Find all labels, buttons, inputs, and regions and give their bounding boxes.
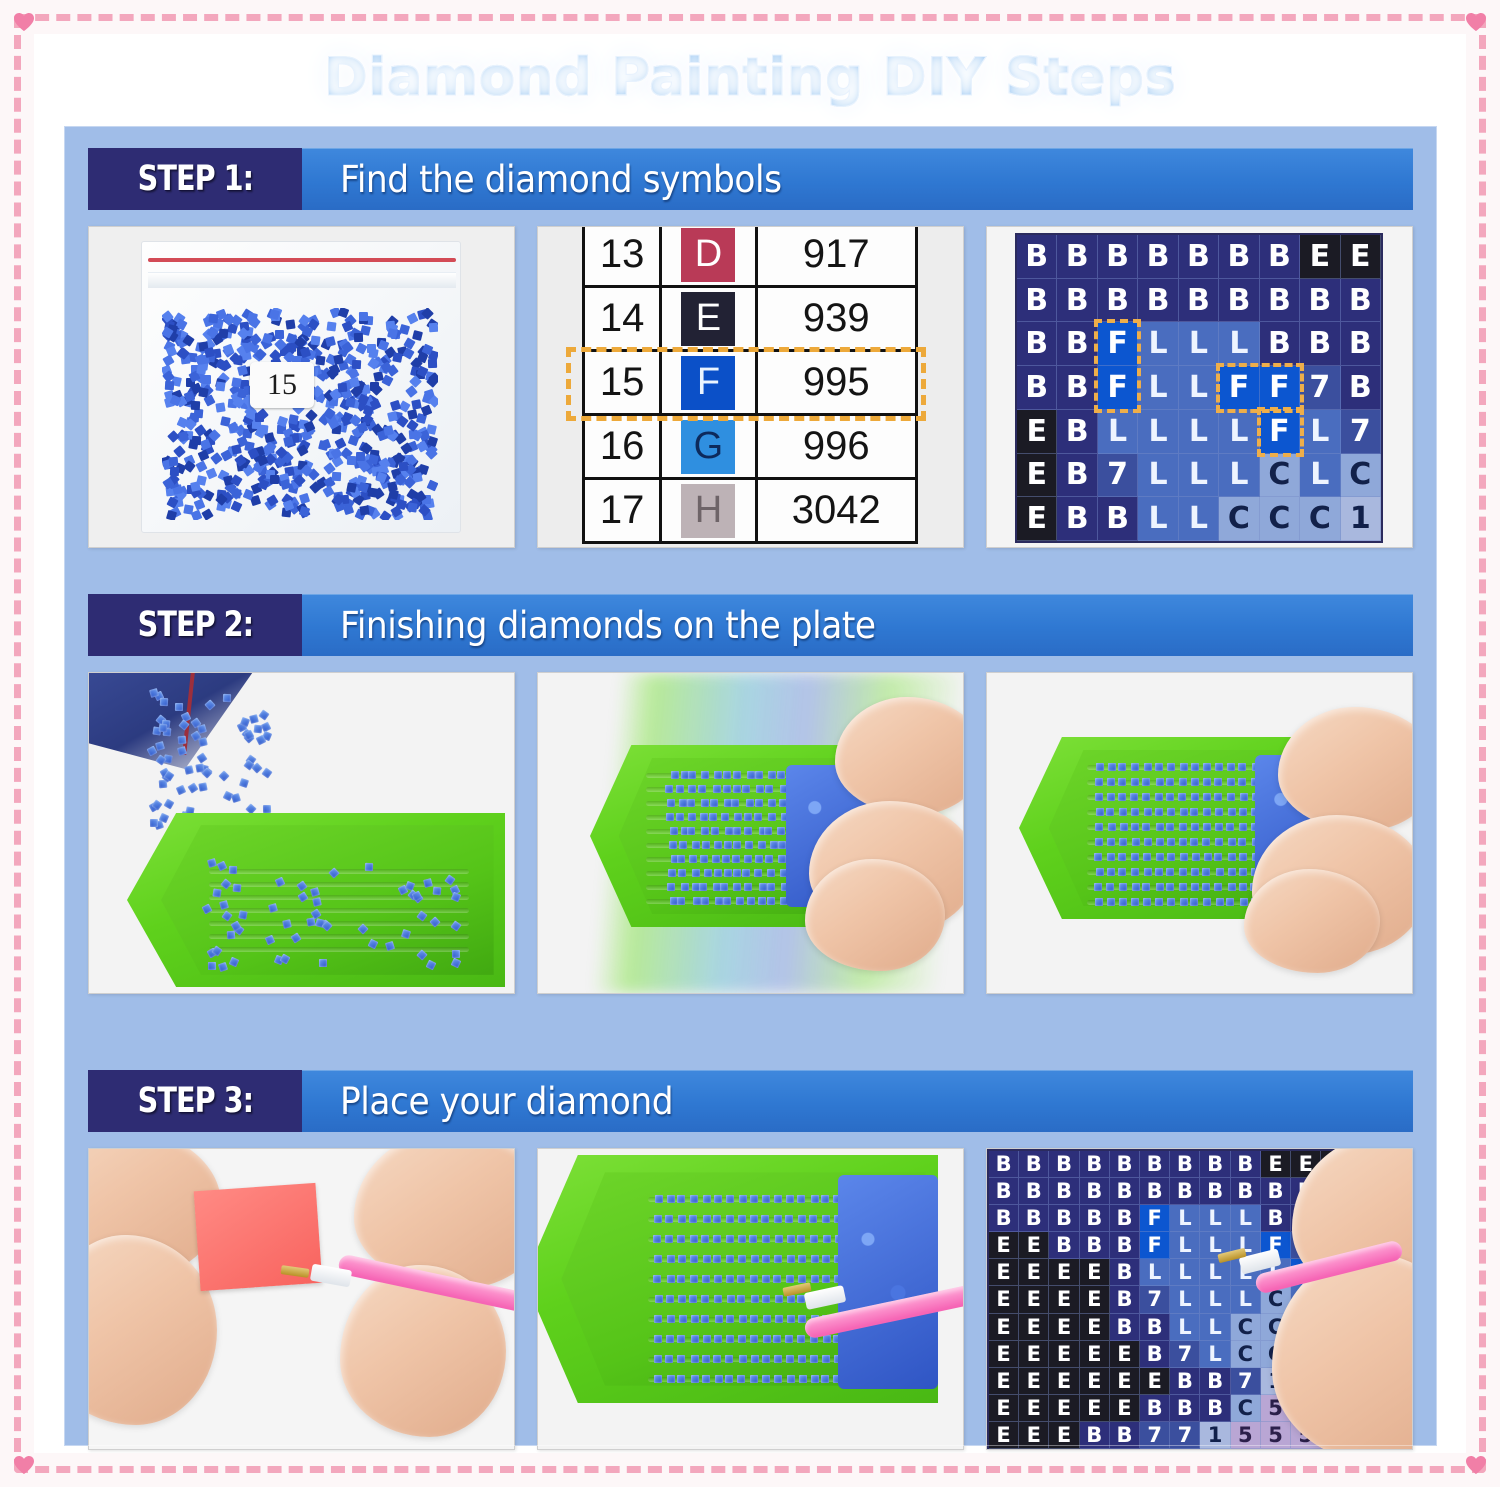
diamond (1238, 778, 1246, 786)
diamond (822, 1215, 830, 1223)
diamond (765, 855, 773, 863)
grid-cell: B (989, 1151, 1019, 1178)
diamond (1167, 853, 1175, 861)
diamond (823, 1335, 831, 1343)
grid-cell: E (1080, 1341, 1110, 1368)
diamond (187, 783, 198, 794)
diamond (1155, 868, 1163, 876)
diamond (1179, 883, 1187, 891)
bag-scene: 15 (89, 227, 514, 547)
diamond (1228, 853, 1236, 861)
grid-cell: E (989, 1314, 1019, 1341)
diamond (689, 1215, 697, 1223)
canvas-symbol-grid-photo: BBBBBBBEEBBBBBBBBBBBFLLLBBBBBFLLFF7BEBLL… (986, 226, 1413, 548)
diamond (714, 1335, 722, 1343)
diamond-bead (196, 475, 207, 486)
aligned-diamonds-tray-photo (986, 672, 1413, 994)
grid-cell: L (1098, 410, 1138, 454)
diamond (751, 1295, 759, 1303)
grid-cell: B (1098, 279, 1138, 323)
diamond (1131, 853, 1139, 861)
grid-cell: B (1200, 1178, 1230, 1205)
diamond (1107, 868, 1115, 876)
diamond (1191, 823, 1199, 831)
diamond-bead (315, 356, 325, 366)
diamond (1108, 823, 1116, 831)
diamond (1142, 793, 1150, 801)
diamond (1191, 793, 1199, 801)
diamond-bead (326, 322, 336, 332)
diamond (704, 869, 712, 877)
grid-cell: F (1140, 1205, 1170, 1232)
diamond (679, 841, 687, 849)
legend-number: 14 (584, 287, 661, 351)
grid-cell: B (1057, 410, 1097, 454)
diamond (774, 1195, 782, 1203)
grid-cell: B (1261, 1178, 1291, 1205)
diamond (702, 1375, 710, 1383)
diamond (1239, 808, 1247, 816)
diamond (755, 855, 763, 863)
diamond (739, 1195, 747, 1203)
diamond (732, 855, 740, 863)
bag-number-label: 15 (250, 362, 314, 408)
grid-cell: F (1219, 366, 1259, 410)
grid-cell: B (1341, 322, 1381, 366)
diamond-bead (192, 435, 201, 444)
grid-cell: B (1080, 1205, 1110, 1232)
diamond (310, 887, 320, 897)
grid-cell: B (1219, 279, 1259, 323)
step-2-block: STEP 2: Finishing diamonds on the plate (88, 594, 1413, 994)
diamond (1095, 778, 1103, 786)
diamond (750, 1375, 758, 1383)
diamond (1228, 838, 1236, 846)
diamond (666, 813, 674, 821)
diamond (799, 1375, 807, 1383)
grid-cell: F (1140, 1232, 1170, 1259)
diamond (1191, 778, 1199, 786)
diamond (700, 855, 708, 863)
diamond (1215, 808, 1223, 816)
diamond (750, 1195, 758, 1203)
diamond (750, 1315, 758, 1323)
diamond (208, 962, 216, 970)
grid-cell: E (1049, 1341, 1079, 1368)
diamond (738, 1255, 746, 1263)
grid-cell: E (1110, 1341, 1140, 1368)
step-2-photo-row (88, 656, 1413, 994)
diamond-bead (277, 415, 288, 426)
diamond (758, 841, 766, 849)
diamond (667, 1375, 675, 1383)
diamond (754, 869, 762, 877)
diamond (821, 1375, 829, 1383)
diamond (665, 1215, 673, 1223)
diamond (1108, 763, 1116, 771)
grid-cell: B (1049, 1205, 1079, 1232)
diamond (702, 1355, 710, 1363)
diamond (1095, 898, 1103, 906)
grid-cell: L (1138, 322, 1178, 366)
diamond (1214, 778, 1222, 786)
diamond (678, 869, 686, 877)
diamond (699, 883, 707, 891)
diamond (747, 897, 755, 905)
diamond (1178, 793, 1186, 801)
diamond (1179, 823, 1187, 831)
diamond (762, 1275, 770, 1283)
diamond (1180, 898, 1188, 906)
diamond (733, 771, 741, 779)
diamond (761, 1215, 769, 1223)
grid-cell: E (989, 1422, 1019, 1449)
diamond (1228, 883, 1236, 891)
pour-diamonds-into-tray-photo (88, 672, 515, 994)
diamond (762, 1195, 770, 1203)
diamond (754, 813, 762, 821)
diamond (755, 799, 763, 807)
step-1-title: Find the diamond symbols (302, 148, 1413, 210)
diamond (1142, 823, 1150, 831)
diamond-bead (429, 322, 438, 332)
diamond (1156, 778, 1164, 786)
diamond (1118, 778, 1126, 786)
dip-pen-in-wax-photo (88, 1148, 515, 1450)
diamond (701, 1315, 709, 1323)
diamond (703, 1215, 711, 1223)
grid-scene-step3: BBBBBBBBBEEEEEBBBBBBBBBBBBBEBBBBBFLLLBBB… (987, 1149, 1412, 1449)
grid-cell: C (1219, 497, 1259, 541)
legend-row: 13D917 (584, 226, 917, 287)
diamond-bead (351, 360, 360, 369)
grid-cell: E (989, 1341, 1019, 1368)
diamond-bead (346, 482, 357, 493)
diamond (175, 703, 183, 711)
diamond (1096, 763, 1104, 771)
diamond (677, 1275, 685, 1283)
grid-cell: B (1140, 1314, 1170, 1341)
shake-tray-photo (537, 672, 964, 994)
grid-cell: L (1300, 410, 1340, 454)
diamond (713, 1215, 721, 1223)
diamond (1119, 838, 1127, 846)
legend-number: 17 (584, 479, 661, 543)
step-3-photo-row: BBBBBBBBBEEEEEBBBBBBBBBBBBBEBBBBBFLLLBBB… (88, 1132, 1413, 1450)
diamond (667, 1275, 675, 1283)
step-2-title: Finishing diamonds on the plate (302, 594, 1413, 656)
diamond (1106, 808, 1114, 816)
diamond (744, 883, 752, 891)
diamond (703, 1195, 711, 1203)
diamond (679, 1315, 687, 1323)
diamond (1144, 868, 1152, 876)
diamond (736, 897, 744, 905)
diamond-bead (287, 343, 297, 353)
diamond (184, 765, 194, 775)
diamond-bead (325, 336, 336, 347)
diamond (701, 1295, 709, 1303)
diamond (1167, 838, 1175, 846)
grid-cell: L (1231, 1205, 1261, 1232)
grid-cell: E (1019, 1422, 1049, 1449)
diamond (1156, 823, 1164, 831)
grid-cell: E (1019, 1286, 1049, 1313)
grid-cell: B (1019, 1205, 1049, 1232)
diamond (777, 771, 785, 779)
diamond-bead (346, 456, 355, 465)
diamond (703, 1255, 711, 1263)
grid-cell: B (1110, 1314, 1140, 1341)
diamond-bead (359, 312, 368, 321)
diamond (1239, 823, 1247, 831)
legend-symbol-chip: D (681, 228, 735, 282)
ziplock-bag: 15 (141, 241, 461, 533)
diamond (733, 827, 741, 835)
diamond (690, 1255, 698, 1263)
diamond (1167, 898, 1175, 906)
diamond (677, 1355, 685, 1363)
diamond (734, 813, 742, 821)
diamond (1180, 808, 1188, 816)
step-2-tag: STEP 2: (88, 594, 302, 656)
diamond (432, 887, 441, 896)
diamond-bead (379, 510, 392, 520)
grid-cell: E (989, 1259, 1019, 1286)
diamond (238, 910, 247, 919)
diamond (821, 1195, 829, 1203)
diamond (713, 785, 721, 793)
diamond (1167, 763, 1175, 771)
diamond (822, 1275, 830, 1283)
grid-cell: E (1017, 497, 1057, 541)
diamond (1203, 808, 1211, 816)
legend-number: 16 (584, 415, 661, 479)
diamond (733, 841, 741, 849)
diamond (739, 1315, 747, 1323)
wax-scene (89, 1149, 514, 1449)
grid-cell: E (1019, 1259, 1049, 1286)
diamond (762, 1375, 770, 1383)
grid-cell: B (1080, 1232, 1110, 1259)
diamond (1166, 793, 1174, 801)
grid-cell: L (1179, 454, 1219, 498)
diamond (822, 1355, 830, 1363)
diamond (198, 738, 208, 748)
diamond (678, 1215, 686, 1223)
diamond (1227, 778, 1235, 786)
diamond (713, 1255, 721, 1263)
diamond (253, 725, 262, 734)
diamond-bead (347, 434, 359, 446)
diamond (667, 1315, 675, 1323)
diamond (1202, 868, 1210, 876)
blue-diamond-beads (162, 308, 438, 520)
grid-cell: E (1341, 235, 1381, 279)
grid-cell: B (1219, 235, 1259, 279)
diamond (701, 827, 709, 835)
diamond (228, 866, 236, 874)
diamond (763, 1315, 771, 1323)
legend-dmc-code: 996 (756, 415, 917, 479)
diamond (677, 1335, 685, 1343)
grid-cell: 7 (1140, 1422, 1170, 1449)
bag-zip-line (148, 258, 456, 262)
grid-cell: B (1200, 1151, 1230, 1178)
thumb (1244, 869, 1380, 973)
diamond (751, 1355, 759, 1363)
diamond (737, 1295, 745, 1303)
diamond (733, 785, 741, 793)
grid-cell: B (989, 1205, 1019, 1232)
diamond (1132, 838, 1140, 846)
diamond (773, 1275, 781, 1283)
diamond-bead (354, 333, 363, 342)
diamond (723, 771, 731, 779)
grid-cell: E (1110, 1395, 1140, 1422)
diamond (726, 1215, 734, 1223)
diamond (1095, 823, 1103, 831)
diamond-bead (209, 314, 219, 324)
tray-groove (209, 934, 469, 939)
grid-cell: L (1200, 1286, 1230, 1313)
diamond (756, 785, 764, 793)
diamond (654, 1255, 662, 1263)
step-2-header: STEP 2: Finishing diamonds on the plate (88, 594, 1413, 656)
grid-cell: B (1260, 235, 1300, 279)
step-1-tag-label: STEP 1: (137, 159, 252, 199)
diamond (785, 1215, 793, 1223)
diamond-heap (838, 1175, 938, 1389)
diamond (223, 693, 231, 701)
diamond-bead (359, 506, 369, 516)
diamond (665, 1355, 673, 1363)
tray-groove (209, 908, 469, 913)
grid-cell: B (1260, 322, 1300, 366)
diamond (677, 855, 685, 863)
grid-cell: B (1057, 322, 1097, 366)
diamond (723, 897, 731, 905)
bag-number-value: 15 (267, 368, 297, 402)
grid-cell: B (1200, 1395, 1230, 1422)
hand (88, 1235, 217, 1425)
diamond (1214, 853, 1222, 861)
diamond (701, 1235, 709, 1243)
grid-cell: C (1231, 1395, 1261, 1422)
diamond (700, 813, 708, 821)
title-area: Diamond Painting DIY Steps (34, 34, 1466, 120)
grid-cell: 5 (1261, 1422, 1291, 1449)
diamond (701, 799, 709, 807)
legend-dmc-code: 3042 (756, 479, 917, 543)
diamond (678, 1295, 686, 1303)
diamond (178, 735, 187, 744)
diamond (1096, 808, 1104, 816)
shake-scene (538, 673, 963, 993)
diamond (677, 897, 685, 905)
grid-cell: F (1098, 366, 1138, 410)
diamond (1204, 853, 1212, 861)
diamond (774, 1215, 782, 1223)
step-3-tag-label: STEP 3: (137, 1081, 252, 1121)
diamond (738, 1335, 746, 1343)
diamond (690, 1195, 698, 1203)
diamond (726, 1335, 734, 1343)
diamond (1190, 898, 1198, 906)
step-1-title-label: Find the diamond symbols (340, 158, 782, 201)
diamond (702, 1275, 710, 1283)
grid-cell: E (1019, 1368, 1049, 1395)
diamond (1156, 853, 1164, 861)
diamond (1118, 853, 1126, 861)
grid-cell: C (1300, 497, 1340, 541)
diamond (1156, 838, 1164, 846)
diamond (665, 1235, 673, 1243)
diamond-bead (165, 509, 176, 520)
legend-symbol-chip: F (681, 356, 735, 410)
diamond (764, 827, 772, 835)
grid-cell: B (1261, 1205, 1291, 1232)
diamond (1131, 898, 1139, 906)
grid-cell: L (1219, 322, 1259, 366)
diamond (720, 883, 728, 891)
grid-cell: L (1140, 1259, 1170, 1286)
diamond (777, 827, 785, 835)
grid-cell: E (1017, 410, 1057, 454)
diamond (667, 1195, 675, 1203)
diamond (701, 897, 709, 905)
diamond (691, 1335, 699, 1343)
diamond (811, 1195, 819, 1203)
diamond (714, 1275, 722, 1283)
grid-cell: L (1219, 410, 1259, 454)
grid-cell: B (1057, 454, 1097, 498)
diamond (687, 799, 695, 807)
diamond (690, 1235, 698, 1243)
diamond (666, 1295, 674, 1303)
diamond (1095, 793, 1103, 801)
diamond-bead (193, 499, 205, 511)
diamond (1226, 898, 1234, 906)
diamond (724, 841, 732, 849)
grid-cell: L (1170, 1286, 1200, 1313)
diamond-bead (399, 324, 410, 335)
diamond (762, 1255, 770, 1263)
diamond-bead (390, 400, 401, 411)
diamond (750, 1215, 758, 1223)
grid-cell: E (1080, 1314, 1110, 1341)
place-on-canvas-photo: BBBBBBBBBEEEEEBBBBBBBBBBBBBEBBBBBFLLLBBB… (986, 1148, 1413, 1450)
diamond (1131, 823, 1139, 831)
diamond (703, 1335, 711, 1343)
diamond (725, 1355, 733, 1363)
diamond (1238, 838, 1246, 846)
step-3-title: Place your diamond (302, 1070, 1413, 1132)
diamond (723, 785, 731, 793)
grid-cell: L (1138, 410, 1178, 454)
diamond-bead (305, 409, 318, 422)
grid-cell: 5 (1231, 1422, 1261, 1449)
diamond (810, 1355, 818, 1363)
diamond (759, 883, 767, 891)
diamond (654, 1375, 662, 1383)
pick-up-diamond-photo (537, 1148, 964, 1450)
step-3-header: STEP 3: Place your diamond (88, 1070, 1413, 1132)
diamond-bead (231, 444, 242, 455)
diamond-bead (168, 456, 178, 466)
grid-cell: E (989, 1286, 1019, 1313)
diamond (654, 1355, 662, 1363)
